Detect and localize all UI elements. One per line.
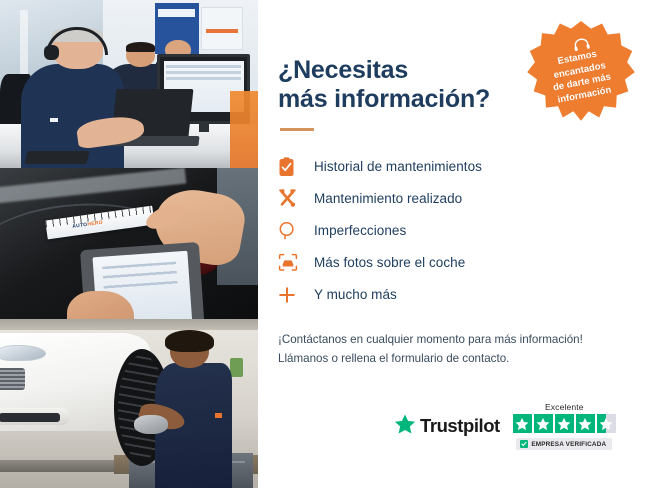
agent-1-headset-earpad [44,45,59,60]
list-item-label: Mantenimiento realizado [308,191,462,206]
badge-text-block: Estamos encantados de darte más informac… [535,44,627,109]
trustpilot-wordmark: Trustpilot [420,415,500,437]
verified-label: EMPRESA VERIFICADA [531,441,606,448]
plus-icon [278,286,308,304]
car-lower-grille [0,413,60,422]
magnifier-icon [278,221,308,240]
rating-label: Excelente [545,402,584,412]
list-item-label: Imperfecciones [308,223,406,238]
feature-list: Historial de mantenimientos Mantenimient… [278,151,650,311]
check-icon [520,440,528,448]
rating-star-2 [534,414,553,433]
tools-cross-icon [278,189,308,208]
mechanic-glove [134,415,168,434]
badge-content: Estamos encantados de darte más informac… [521,21,641,141]
clipboard-check-icon [278,157,308,177]
desk-tablet [24,151,89,164]
list-item-label: Más fotos sobre el coche [308,255,465,270]
trustpilot-star-icon [394,413,416,440]
rating-star-4 [576,414,595,433]
star-rating [513,414,616,433]
list-item: Y mucho más [278,279,650,311]
rating-star-5-half [597,414,616,433]
rating-star-1 [513,414,532,433]
contact-line-2: Llámanos o rellena el formulario de cont… [278,349,650,369]
trustpilot-score-block: Excelente [513,402,616,450]
contact-paragraph: ¡Contáctanos en cualquier momento para m… [278,330,650,370]
information-promo-card: AUTOHERO [0,0,650,488]
photo-call-center-agents-with-headsets [0,0,258,168]
title-accent-rule [280,128,314,131]
list-item-label: Historial de mantenimientos [308,159,482,174]
rating-star-3 [555,414,574,433]
car-lift-platform [0,460,114,473]
ruler-brand-part-2: HERO [87,220,103,228]
car-headlight [0,345,46,361]
mechanic-uniform-logo [215,413,222,418]
agent-1-name-badge [50,118,58,122]
list-item-label: Y mucho más [308,287,397,302]
photo-column: AUTOHERO [0,0,258,488]
wall-poster [201,7,242,51]
trustpilot-rating[interactable]: Trustpilot Excelente [394,402,616,450]
monitor-screen-rows [166,65,241,80]
ruler-brand-part-1: AUTO [72,222,88,230]
car-grille [0,368,25,390]
list-item: Historial de mantenimientos [278,151,650,183]
status-badge: EMPRESA VERIFICADA [516,438,612,450]
photo-inspector-measuring-car-with-autohero-ruler: AUTOHERO [0,168,258,330]
photo-mechanic-inspecting-wheel-on-lift [0,330,258,488]
orange-fixture [230,91,258,168]
content-panel: Estamos encantados de darte más informac… [258,0,650,488]
trustpilot-logo[interactable]: Trustpilot [394,413,500,440]
mechanic-hair [165,330,214,352]
agent-2-hair [126,42,154,52]
list-item: Más fotos sobre el coche [278,247,650,279]
wall-tool-green [230,358,243,377]
car-photo-frame-icon [278,253,308,272]
contact-line-1: ¡Contáctanos en cualquier momento para m… [278,330,650,350]
list-item: Mantenimiento realizado [278,183,650,215]
list-item: Imperfecciones [278,215,650,247]
floor-strip [0,319,258,330]
info-starburst-badge: Estamos encantados de darte más informac… [521,21,641,141]
